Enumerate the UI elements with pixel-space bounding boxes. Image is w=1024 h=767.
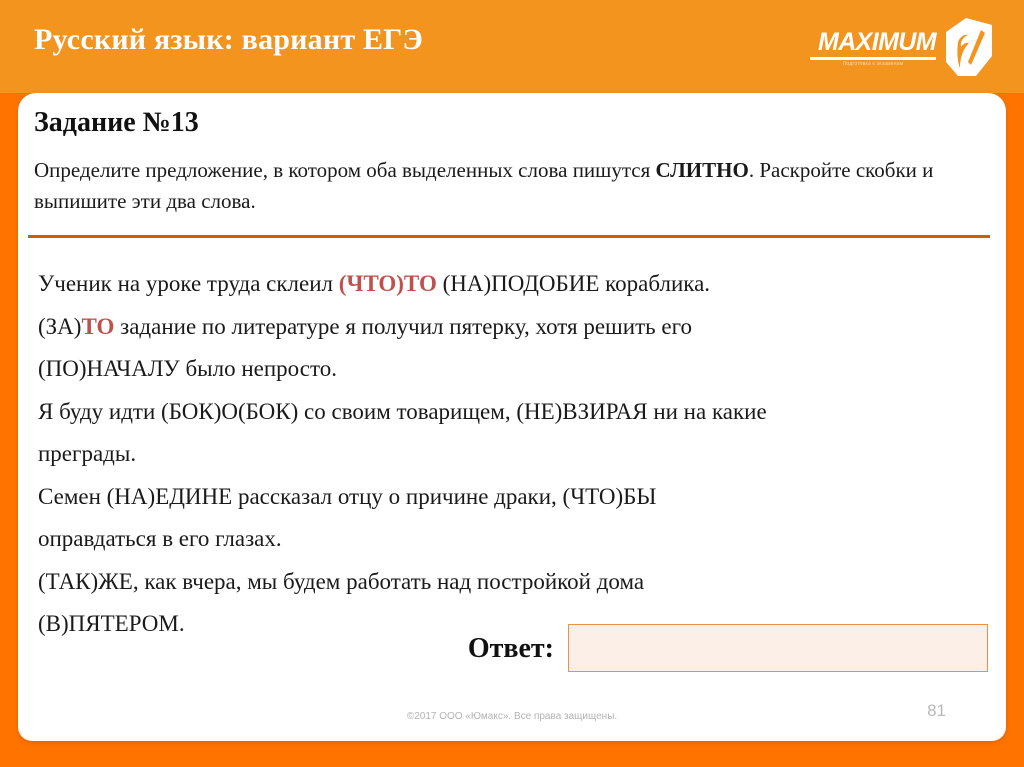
page-title: Русский язык: вариант ЕГЭ <box>34 22 423 58</box>
sentence-text: преграды. <box>38 441 136 466</box>
maximum-logo: MAXIMUM Подготовка к экзаменам <box>784 16 1002 78</box>
highlighted-word: ТО <box>81 314 114 339</box>
sentence-text: (ЗА) <box>38 314 81 339</box>
sentence-text: оправдаться в его глазах. <box>38 526 282 551</box>
answer-input[interactable] <box>568 624 988 672</box>
copyright-notice: ©2017 ООО «Юмакс». Все права защищены. <box>18 710 1006 724</box>
sentence-line: (ПО)НАЧАЛУ было непросто. <box>38 348 988 391</box>
instruction-prefix: Определите предложение, в котором оба вы… <box>34 158 656 182</box>
maximum-shield-icon <box>936 16 1000 78</box>
sentence-text: Ученик на уроке труда склеил <box>38 271 339 296</box>
sentence-line: оправдаться в его глазах. <box>38 518 988 561</box>
sentence-line: (ТАК)ЖЕ, как вчера, мы будем работать на… <box>38 561 988 604</box>
sentence-text: Я буду идти (БОК)О(БОК) со своим товарищ… <box>38 399 767 424</box>
task-instruction: Определите предложение, в котором оба вы… <box>34 155 986 217</box>
logo-wordmark: MAXIMUM <box>784 30 936 55</box>
logo-underline <box>810 57 936 60</box>
answer-row: Ответ: <box>418 624 990 676</box>
slide-root: Русский язык: вариант ЕГЭ MAXIMUM Подгот… <box>0 0 1024 767</box>
sentence-line: Семен (НА)ЕДИНЕ рассказал отцу о причине… <box>38 476 988 519</box>
task-title: Задание №13 <box>34 106 199 140</box>
sentence-text: (ПО)НАЧАЛУ было непросто. <box>38 356 337 381</box>
sentence-text: задание по литературе я получил пятерку,… <box>114 314 692 339</box>
logo-tagline: Подготовка к экзаменам <box>810 61 936 68</box>
answer-label: Ответ: <box>418 630 554 668</box>
sentence-text: (НА)ПОДОБИЕ кораблика. <box>437 271 710 296</box>
sentence-line: (ЗА)ТО задание по литературе я получил п… <box>38 306 988 349</box>
highlighted-word: (ЧТО)ТО <box>339 271 437 296</box>
sentence-line: преграды. <box>38 433 988 476</box>
sentence-text: Семен (НА)ЕДИНЕ рассказал отцу о причине… <box>38 484 656 509</box>
sentence-line: Ученик на уроке труда склеил (ЧТО)ТО (НА… <box>38 263 988 306</box>
sentence-text: (В)ПЯТЕРОМ. <box>38 611 185 636</box>
sentence-text: (ТАК)ЖЕ, как вчера, мы будем работать на… <box>38 569 644 594</box>
instruction-emphasis: СЛИТНО <box>656 158 749 182</box>
page-number: 81 <box>927 700 946 722</box>
sentence-line: Я буду идти (БОК)О(БОК) со своим товарищ… <box>38 391 988 434</box>
sentence-list: Ученик на уроке труда склеил (ЧТО)ТО (НА… <box>38 263 988 646</box>
section-divider <box>28 235 990 238</box>
slide-header-band: Русский язык: вариант ЕГЭ MAXIMUM Подгот… <box>0 0 1024 93</box>
content-card: Задание №13 Определите предложение, в ко… <box>18 93 1006 741</box>
